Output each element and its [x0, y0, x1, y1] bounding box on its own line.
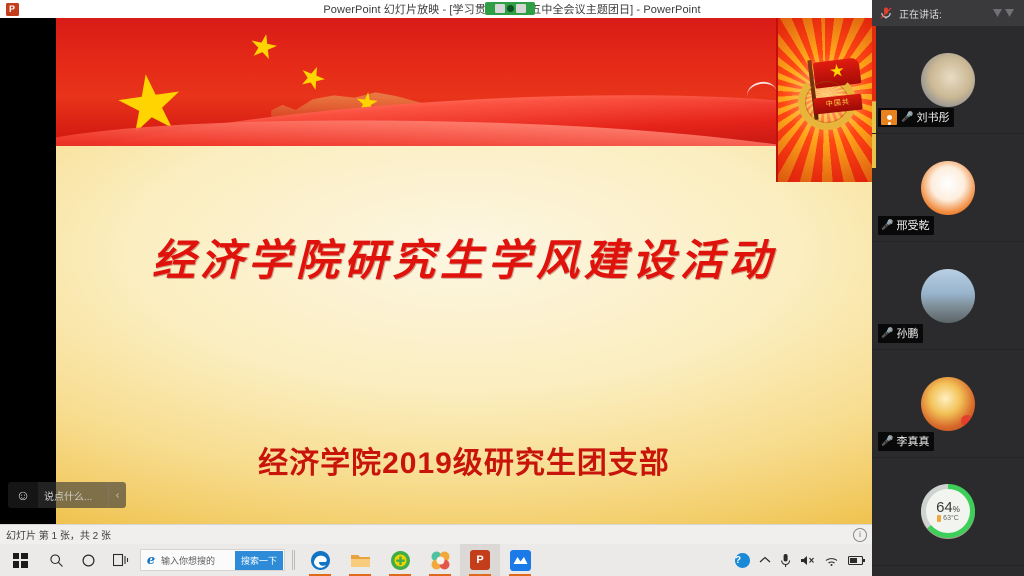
participant-name-tag: 🎤 刘书彤	[878, 108, 954, 127]
system-tray: ?	[735, 544, 866, 576]
battery-temperature: 63°C	[937, 515, 959, 522]
overlay-chip-left	[495, 4, 505, 13]
meeting-chat-bar[interactable]: ☺ 说点什么... ‹	[8, 482, 126, 508]
taskbar-search-box[interactable]: e 输入你想搜的 搜索一下	[140, 549, 285, 571]
youth-league-emblem-panel: 中国共	[776, 18, 872, 182]
start-button[interactable]	[0, 544, 40, 576]
participant-name: 邢受乾	[896, 217, 929, 233]
participant-name-tag: 🎤 李真真	[878, 432, 934, 451]
overlay-chip-right	[516, 4, 526, 13]
slide-counter: 幻灯片 第 1 张，共 2 张	[6, 527, 111, 542]
help-icon[interactable]: ?	[735, 553, 750, 568]
dove-icon	[745, 79, 777, 96]
title-overlay-badge	[485, 2, 535, 15]
taskbar-app-flower[interactable]	[420, 544, 460, 576]
chevron-up-icon[interactable]	[759, 556, 771, 564]
taskbar-divider	[292, 550, 293, 570]
participant-name-tag: 🎤 邢受乾	[878, 216, 934, 235]
chat-collapse-icon[interactable]: ‹	[108, 482, 126, 508]
info-icon[interactable]: i	[853, 528, 867, 542]
speaking-header: 正在讲话:	[872, 0, 1024, 26]
slideshow-area[interactable]: 中国共 经济学院研究生学风建设活动 经济学院2019级研究生团支部 ☺ 说点什么…	[0, 18, 872, 524]
slide-header-banner	[56, 18, 872, 146]
taskbar-app-powerpoint[interactable]: P	[460, 544, 500, 576]
speaker-muted-icon[interactable]	[800, 554, 815, 567]
edge-e-icon: e	[141, 553, 161, 568]
mic-muted-icon: 🎤	[901, 112, 913, 123]
participant-name-tag: 🎤 孙鹏	[878, 324, 923, 343]
avatar-badge	[961, 415, 973, 427]
mic-muted-icon: 🎤	[881, 436, 893, 447]
emblem-scroll-text: 中国共	[813, 94, 862, 115]
battery-icon[interactable]	[848, 555, 866, 566]
participant-tile[interactable]: 🎤 刘书彤	[872, 26, 1024, 134]
slide-title: 经济学院研究生学风建设活动	[56, 226, 872, 288]
microphone-icon[interactable]	[780, 553, 791, 568]
chat-input[interactable]: 说点什么...	[38, 482, 108, 508]
flag-star-1	[248, 31, 280, 62]
windows-logo-icon	[13, 553, 28, 568]
task-view-icon[interactable]	[104, 544, 138, 576]
taskbar-app-edge[interactable]	[300, 544, 340, 576]
meeting-sidebar: 正在讲话: 🎤 刘书彤 🎤 邢受乾	[872, 0, 1024, 576]
taskbar-app-green-plus[interactable]	[380, 544, 420, 576]
participant-tile[interactable]: 🎤 孙鹏	[872, 242, 1024, 350]
battery-status-widget: 64% 63°C	[921, 484, 975, 538]
taskbar-app-tencent-meeting[interactable]	[500, 544, 540, 576]
mic-muted-icon: 🎤	[881, 220, 893, 231]
slide-subtitle: 经济学院2019级研究生团支部	[56, 438, 872, 482]
window-title-bar: P PowerPoint 幻灯片放映 - [学习贯彻十九届五中全会议主题团日] …	[0, 0, 1024, 18]
avatar	[921, 269, 975, 323]
screen: P PowerPoint 幻灯片放映 - [学习贯彻十九届五中全会议主题团日] …	[0, 0, 1024, 576]
battery-widget-inner: 64% 63°C	[926, 489, 970, 533]
double-chevron-icon[interactable]	[992, 7, 1018, 19]
search-icon[interactable]	[40, 544, 72, 576]
cortana-circle-icon[interactable]	[72, 544, 104, 576]
speaking-label: 正在讲话:	[899, 6, 942, 21]
battery-percent-unit: %	[953, 505, 960, 514]
participant-name: 孙鹏	[896, 325, 918, 341]
flag-star-2	[296, 62, 328, 94]
search-input[interactable]: 输入你想搜的	[161, 554, 235, 567]
speaking-mic-icon	[878, 6, 893, 21]
participant-tile[interactable]: 🎤 李真真	[872, 350, 1024, 458]
avatar	[921, 53, 975, 107]
overlay-dot	[507, 5, 514, 12]
battery-percent: 64%	[936, 500, 960, 515]
powerpoint-taskbar-glyph: P	[470, 550, 490, 570]
participant-name: 刘书彤	[916, 109, 949, 125]
battery-percent-value: 64	[936, 499, 953, 516]
slide-status-bar: 幻灯片 第 1 张，共 2 张 i	[0, 524, 872, 544]
avatar	[921, 161, 975, 215]
avatar	[921, 377, 975, 431]
windows-taskbar[interactable]: e 输入你想搜的 搜索一下	[0, 544, 872, 576]
host-icon	[881, 110, 897, 125]
search-submit-button[interactable]: 搜索一下	[235, 551, 283, 570]
youth-league-emblem: 中国共	[796, 60, 864, 132]
thermometer-icon	[937, 515, 941, 522]
participant-tile[interactable]: 🎤 邢受乾	[872, 134, 1024, 242]
battery-temperature-value: 63°C	[943, 515, 959, 522]
wifi-icon[interactable]	[824, 554, 839, 566]
taskbar-app-file-explorer[interactable]	[340, 544, 380, 576]
slide-canvas[interactable]: 中国共 经济学院研究生学风建设活动 经济学院2019级研究生团支部	[56, 18, 872, 524]
mic-muted-icon: 🎤	[881, 328, 893, 339]
smiley-icon[interactable]: ☺	[8, 482, 38, 508]
participant-name: 李真真	[896, 433, 929, 449]
